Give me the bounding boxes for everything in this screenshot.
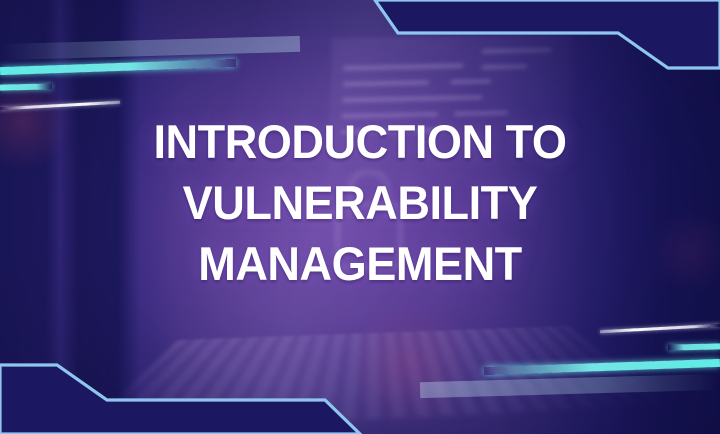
background-code-row <box>343 64 463 71</box>
background-laptop-keyboard <box>78 326 668 434</box>
headline-line-1: INTRODUCTION TO <box>14 118 705 165</box>
banner-headline: INTRODUCTION TO VULNERABILITY MANAGEMENT <box>0 118 720 287</box>
background-code-row <box>481 64 527 69</box>
background-code-row <box>343 80 429 86</box>
promo-banner: INTRODUCTION TO VULNERABILITY MANAGEMENT <box>0 0 720 434</box>
streak-bottom-right-white <box>600 324 720 333</box>
streak-top-left-cyan-long <box>0 59 236 75</box>
top-right-step-shape <box>375 0 720 68</box>
streak-top-left-white <box>0 101 120 110</box>
streak-bottom-right-cyan-short <box>668 343 720 350</box>
background-code-row <box>342 95 482 102</box>
streak-top-left-cyan-short <box>0 83 52 90</box>
background-code-row <box>482 48 552 53</box>
background-code-row <box>451 79 491 84</box>
headline-line-3: MANAGEMENT <box>14 240 705 287</box>
streak-top-left-pale <box>0 36 300 60</box>
headline-line-2: VULNERABILITY <box>14 179 705 226</box>
